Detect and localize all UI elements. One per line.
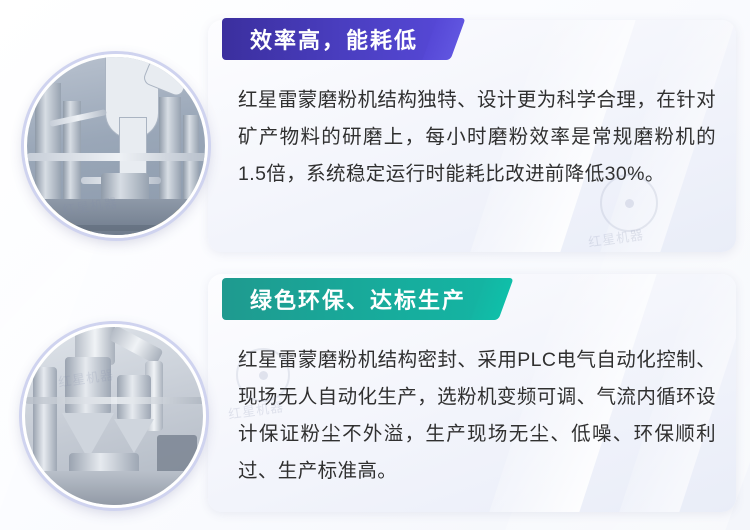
photo-shape: [27, 153, 205, 161]
section-efficiency: 效率高，能耗低 红星雷蒙磨粉机结构独特、设计更为科学合理，在针对矿产物料的研磨上…: [0, 6, 750, 256]
photo-shape: [114, 419, 154, 453]
section-heading-environment: 绿色环保、达标生产: [222, 278, 492, 320]
section-environment: 绿色环保、达标生产 红星雷蒙磨粉机结构密封、采用PLC电气自动化控制、现场无人自…: [0, 262, 750, 524]
section-heading-label: 绿色环保、达标生产: [250, 283, 466, 315]
promo-page: 效率高，能耗低 红星雷蒙磨粉机结构独特、设计更为科学合理，在针对矿产物料的研磨上…: [0, 0, 750, 530]
photo-shape: [25, 397, 203, 404]
photo-ground: [25, 471, 203, 505]
section-paragraph-efficiency: 红星雷蒙磨粉机结构独特、设计更为科学合理，在针对矿产物料的研磨上，每小时磨粉效率…: [238, 82, 716, 193]
photo-shape: [35, 83, 61, 215]
photo-environment-image: [25, 327, 203, 505]
photo-efficiency-image: [27, 57, 205, 235]
photo-shape: [65, 357, 111, 415]
photo-efficiency: [24, 54, 208, 238]
section-paragraph-environment: 红星雷蒙磨粉机结构密封、采用PLC电气自动化控制、现场无人自动化生产，选粉机变频…: [238, 342, 716, 490]
photo-shape: [33, 367, 57, 477]
photo-environment: [22, 324, 206, 508]
section-heading-label: 效率高，能耗低: [250, 23, 418, 55]
section-heading-efficiency: 效率高，能耗低: [222, 18, 444, 60]
photo-shape: [27, 225, 205, 231]
